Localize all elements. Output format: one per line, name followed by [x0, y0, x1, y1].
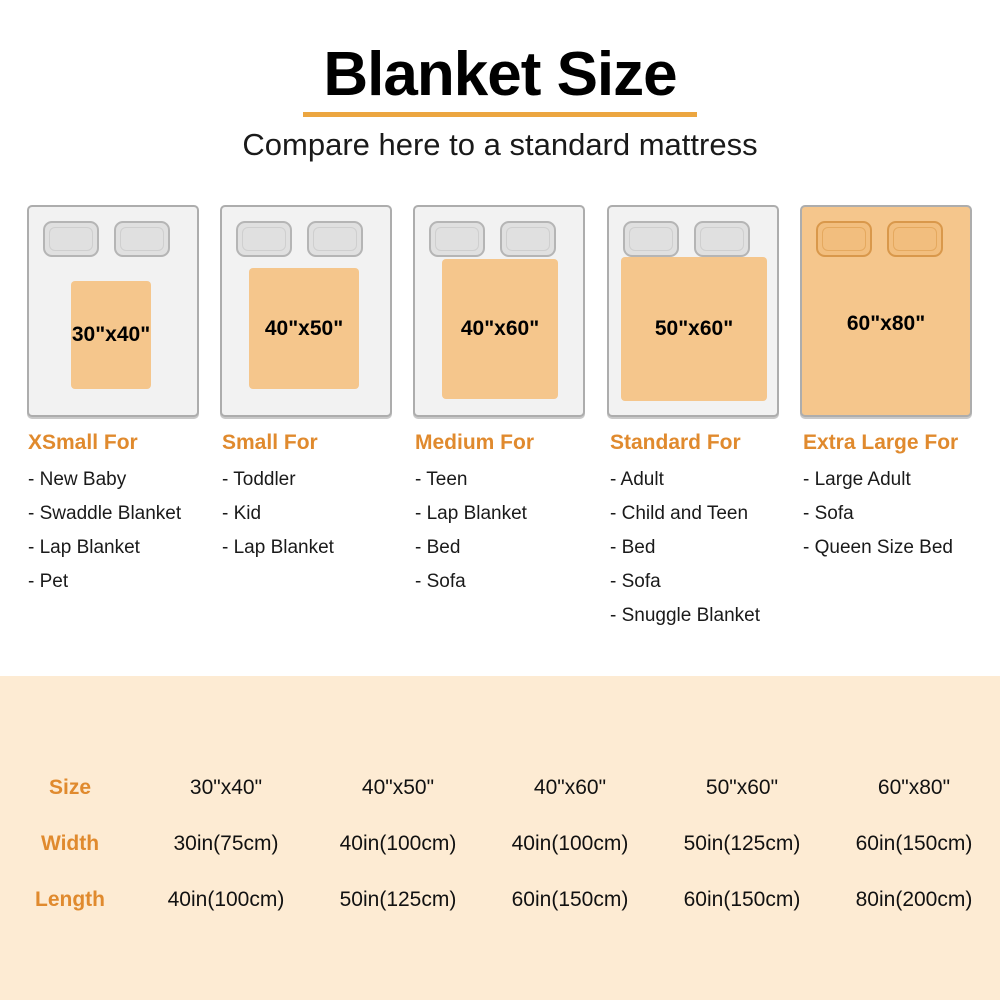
use-list-item: - Sofa: [415, 572, 534, 591]
pillow-icon: [623, 221, 679, 257]
bed-diagram-xsmall: 30"x40": [27, 205, 199, 417]
table-cell: 80in(200cm): [828, 872, 1000, 928]
use-column-xsmall: XSmall For - New Baby - Swaddle Blanket …: [28, 432, 181, 606]
pillow-icon: [43, 221, 99, 257]
table-cell: 50in(125cm): [312, 872, 484, 928]
use-list-item: - Teen: [415, 470, 534, 489]
bed-diagram-extra-large: 60"x80": [800, 205, 972, 417]
table-cell: 40"x50": [312, 760, 484, 816]
use-column-heading: Standard For: [610, 432, 760, 453]
table-cell: 60in(150cm): [828, 816, 1000, 872]
table-row: Width 30in(75cm) 40in(100cm) 40in(100cm)…: [0, 816, 1000, 872]
table-cell: 40"x60": [484, 760, 656, 816]
blanket-size-label: 50"x60": [655, 317, 733, 341]
mattress-outline: 60"x80": [800, 205, 972, 417]
blanket-size-label: 40"x60": [461, 317, 539, 341]
spec-table: Size 30"x40" 40"x50" 40"x60" 50"x60" 60"…: [0, 760, 1000, 928]
blanket-size-label: 40"x50": [265, 317, 343, 341]
blanket-overlay: 40"x50": [249, 268, 359, 389]
use-list-item: - Sofa: [803, 504, 958, 523]
mattress-outline: 30"x40": [27, 205, 199, 417]
pillow-icon: [500, 221, 556, 257]
table-cell: 40in(100cm): [484, 816, 656, 872]
bed-diagram-medium: 40"x60": [413, 205, 585, 417]
use-list-item: - Child and Teen: [610, 504, 760, 523]
table-cell: 40in(100cm): [312, 816, 484, 872]
page-header: Blanket Size Compare here to a standard …: [0, 0, 1000, 160]
use-list-item: - New Baby: [28, 470, 181, 489]
use-column-standard: Standard For - Adult - Child and Teen - …: [610, 432, 760, 640]
pillow-icon: [114, 221, 170, 257]
blanket-size-label: 60"x80": [802, 312, 970, 336]
bed-diagram-standard: 50"x60": [607, 205, 779, 417]
mattress-outline: 50"x60": [607, 205, 779, 417]
page-subtitle: Compare here to a standard mattress: [0, 129, 1000, 160]
use-list-item: - Bed: [415, 538, 534, 557]
use-list-item: - Kid: [222, 504, 334, 523]
table-cell: 30in(75cm): [140, 816, 312, 872]
use-list-item: - Pet: [28, 572, 181, 591]
mattress-outline: 40"x50": [220, 205, 392, 417]
table-cell: 60"x80": [828, 760, 1000, 816]
use-list-item: - Sofa: [610, 572, 760, 591]
pillow-icon: [429, 221, 485, 257]
blanket-overlay: 30"x40": [71, 281, 151, 389]
table-cell: 50in(125cm): [656, 816, 828, 872]
table-cell: 30"x40": [140, 760, 312, 816]
use-list-item: - Toddler: [222, 470, 334, 489]
use-column-heading: Medium For: [415, 432, 534, 453]
pillow-icon: [307, 221, 363, 257]
use-list-item: - Adult: [610, 470, 760, 489]
page-title: Blanket Size: [0, 44, 1000, 106]
pillow-icon: [236, 221, 292, 257]
use-column-extra-large: Extra Large For - Large Adult - Sofa - Q…: [803, 432, 958, 572]
bed-diagram-small: 40"x50": [220, 205, 392, 417]
spec-table-section: Size 30"x40" 40"x50" 40"x60" 50"x60" 60"…: [0, 676, 1000, 1000]
use-list-item: - Lap Blanket: [415, 504, 534, 523]
pillow-icon: [694, 221, 750, 257]
table-row: Size 30"x40" 40"x50" 40"x60" 50"x60" 60"…: [0, 760, 1000, 816]
use-list-item: - Bed: [610, 538, 760, 557]
use-list-item: - Large Adult: [803, 470, 958, 489]
row-header-size: Size: [0, 760, 140, 816]
blanket-size-label: 30"x40": [72, 323, 150, 347]
use-list-item: - Lap Blanket: [28, 538, 181, 557]
use-list-item: - Queen Size Bed: [803, 538, 958, 557]
use-list-item: - Snuggle Blanket: [610, 606, 760, 625]
use-column-small: Small For - Toddler - Kid - Lap Blanket: [222, 432, 334, 572]
use-list-item: - Lap Blanket: [222, 538, 334, 557]
title-underline-rule: [303, 112, 697, 117]
row-header-length: Length: [0, 872, 140, 928]
table-cell: 50"x60": [656, 760, 828, 816]
table-row: Length 40in(100cm) 50in(125cm) 60in(150c…: [0, 872, 1000, 928]
bed-diagram-row: 30"x40" 40"x50" 40"x60" 50"x60": [0, 205, 1000, 417]
use-list-item: - Swaddle Blanket: [28, 504, 181, 523]
blanket-overlay: 50"x60": [621, 257, 767, 401]
use-column-heading: Extra Large For: [803, 432, 958, 453]
mattress-outline: 40"x60": [413, 205, 585, 417]
pillow-icon: [887, 221, 943, 257]
pillow-icon: [816, 221, 872, 257]
use-column-heading: XSmall For: [28, 432, 181, 453]
row-header-width: Width: [0, 816, 140, 872]
blanket-overlay: 40"x60": [442, 259, 558, 399]
table-cell: 60in(150cm): [484, 872, 656, 928]
table-cell: 40in(100cm): [140, 872, 312, 928]
table-cell: 60in(150cm): [656, 872, 828, 928]
use-column-heading: Small For: [222, 432, 334, 453]
use-column-medium: Medium For - Teen - Lap Blanket - Bed - …: [415, 432, 534, 606]
